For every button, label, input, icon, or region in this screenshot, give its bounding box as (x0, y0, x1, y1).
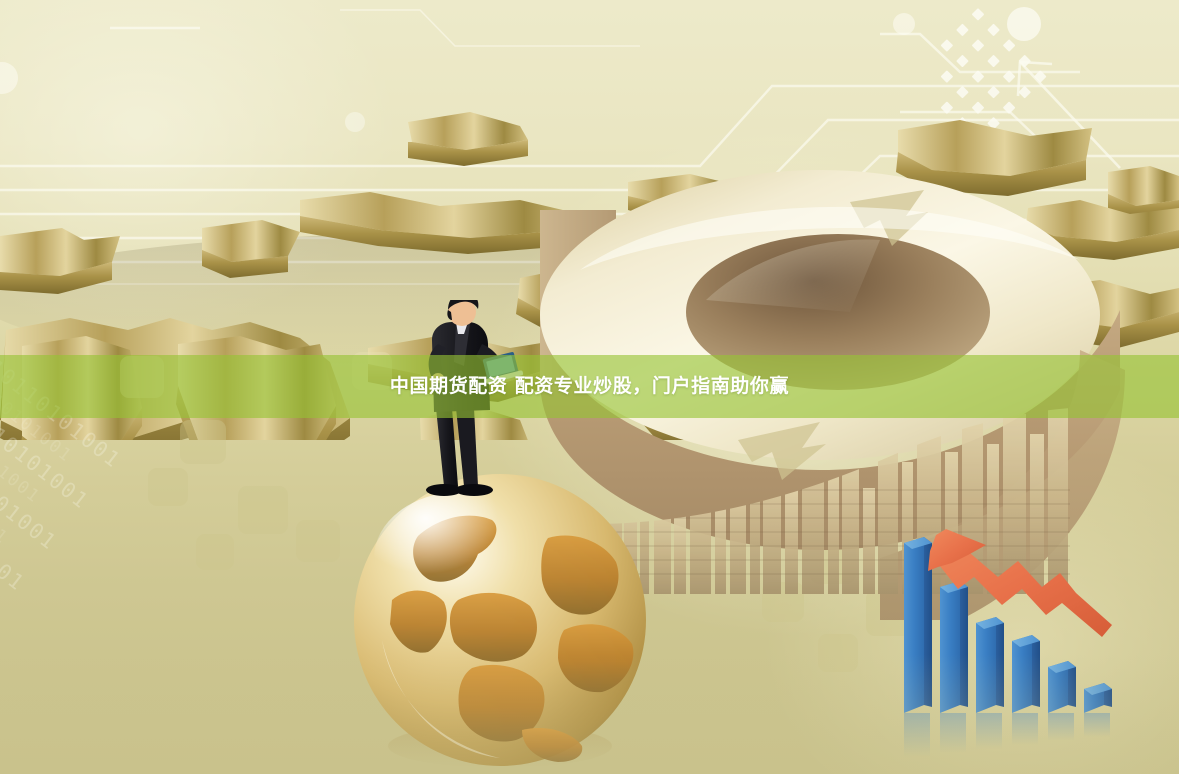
binary-row: 01001010110101001 (0, 402, 339, 774)
decor-square (238, 486, 288, 534)
bar-chart (890, 515, 1140, 774)
decor-square (818, 634, 858, 672)
binary-row: 01001010110101001 (0, 423, 323, 774)
binary-row: 01001010110101001 (0, 505, 258, 774)
binary-row: 01001010110101001 (0, 443, 307, 774)
binary-row: 01001010110101001 (0, 525, 242, 774)
decor-square (196, 534, 234, 570)
banner-image: 01001010110101001 01001010110101001 0100… (0, 0, 1179, 774)
binary-row: 01001010110101001 (0, 464, 291, 774)
page-title: 中国期货配资 配资专业炒股，门户指南助你赢 (390, 377, 789, 396)
decor-square (148, 468, 188, 506)
headline-band: 中国期货配资 配资专业炒股，门户指南助你赢 (0, 355, 1179, 418)
decor-square (296, 520, 340, 562)
binary-row: 01001010110101001 (0, 382, 355, 774)
binary-row: 01001010110101001 (0, 484, 275, 774)
